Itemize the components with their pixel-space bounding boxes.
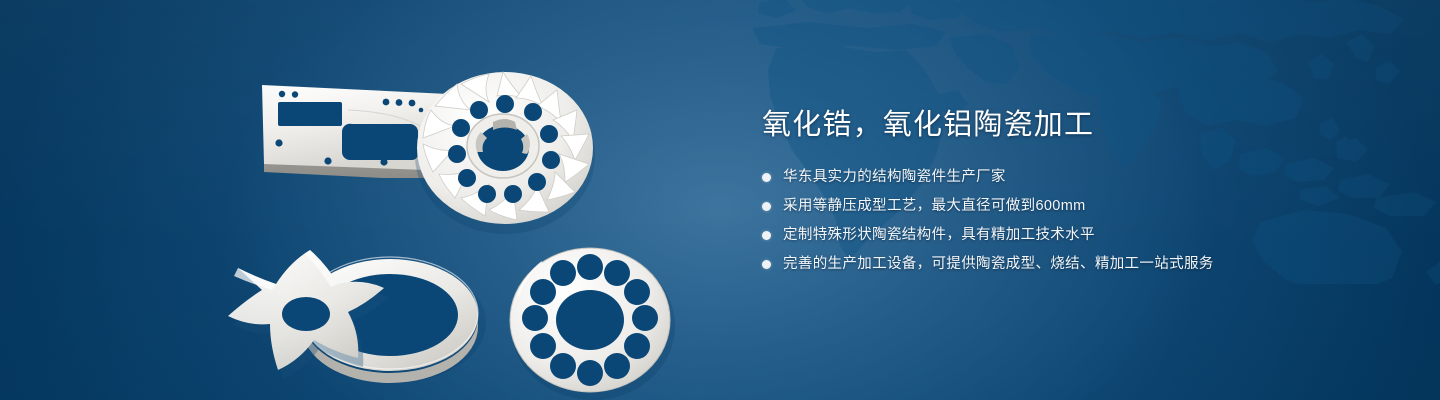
- bullet-circle-icon: [762, 260, 771, 269]
- bullet-circle-icon: [762, 231, 771, 240]
- feature-item-1: 华东具实力的结构陶瓷件生产厂家: [762, 166, 1382, 188]
- bullet-circle-icon: [762, 202, 771, 211]
- feature-item-3: 定制特殊形状陶瓷结构件，具有精加工技术水平: [762, 224, 1382, 246]
- banner-headline: 氧化锆，氧化铝陶瓷加工: [762, 106, 1382, 144]
- feature-text-4: 完善的生产加工设备，可提供陶瓷成型、烧结、精加工一站式服务: [783, 253, 1214, 275]
- feature-text-3: 定制特殊形状陶瓷结构件，具有精加工技术水平: [783, 224, 1095, 246]
- feature-item-2: 采用等静压成型工艺，最大直径可做到600mm: [762, 195, 1382, 217]
- feature-text-2: 采用等静压成型工艺，最大直径可做到600mm: [783, 195, 1086, 217]
- bullet-circle-icon: [762, 173, 771, 182]
- feature-item-4: 完善的生产加工设备，可提供陶瓷成型、烧结、精加工一站式服务: [762, 253, 1382, 275]
- ceramic-product-banner: 氧化锆，氧化铝陶瓷加工 华东具实力的结构陶瓷件生产厂家 采用等静压成型工艺，最大…: [0, 0, 1440, 400]
- feature-list: 华东具实力的结构陶瓷件生产厂家 采用等静压成型工艺，最大直径可做到600mm 定…: [762, 166, 1382, 275]
- feature-text-1: 华东具实力的结构陶瓷件生产厂家: [783, 166, 1006, 188]
- banner-copy: 氧化锆，氧化铝陶瓷加工 华东具实力的结构陶瓷件生产厂家 采用等静压成型工艺，最大…: [762, 106, 1382, 275]
